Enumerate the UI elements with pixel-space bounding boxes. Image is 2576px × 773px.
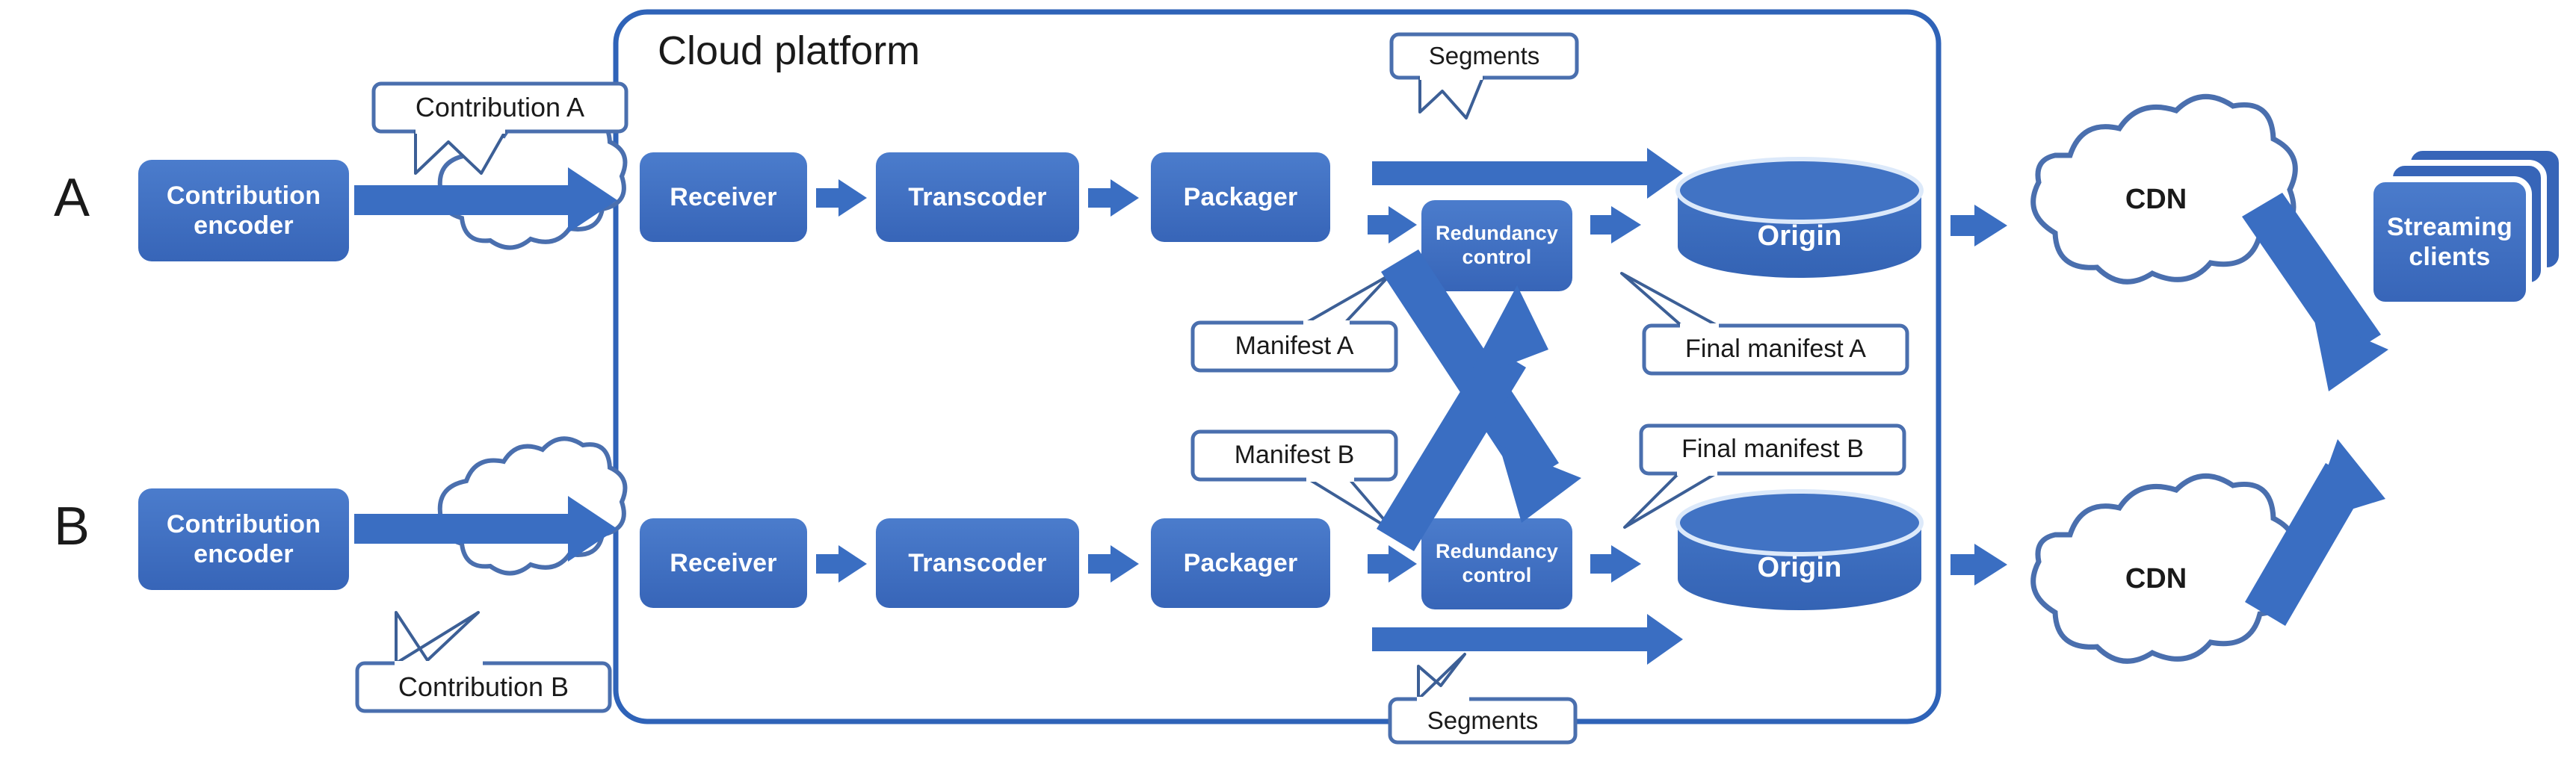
receiver-box-a [640,152,807,242]
transcoder-box-a [876,152,1079,242]
arrow-transcoder-to-packager-b [1088,545,1139,583]
contribution-cloud-b [440,438,626,573]
arrow-packager-to-redundancy-b [1368,545,1417,583]
diagram-canvas: A B Cloud platform Contribution encoder … [0,0,2576,773]
packager-box-a [1151,152,1330,242]
origin-cylinder-b [1678,491,1921,610]
contribution-encoder-box-b [138,488,349,590]
arrow-origin-to-cdn-a [1950,205,2007,246]
packager-box-b [1151,518,1330,608]
callout-segments-a [1392,34,1577,118]
origin-cylinder-a [1678,159,1921,278]
diagram-vector-layer [0,0,2576,773]
callout-final-manifest-a [1622,273,1907,373]
streaming-clients-card-front [2370,179,2529,305]
redundancy-control-box-a [1421,200,1572,291]
arrow-transcoder-to-packager-a [1088,179,1139,217]
receiver-box-b [640,518,807,608]
flow-arrow-segments-b [1372,614,1683,665]
cdn-cloud-b [2033,476,2296,661]
callout-manifest-a [1193,275,1396,370]
arrow-receiver-to-transcoder-a [816,179,867,217]
arrow-origin-to-cdn-b [1950,544,2007,586]
callout-segments-b [1390,654,1575,742]
redundancy-control-box-b [1421,518,1572,609]
arrow-packager-to-redundancy-a [1368,206,1417,243]
arrow-redundancy-to-origin-b [1590,545,1641,583]
cdn-cloud-a [2033,96,2296,282]
arrow-redundancy-to-origin-a [1590,206,1641,243]
flow-arrow-cdn-a-to-clients [2242,193,2388,391]
callout-manifest-b [1193,432,1396,532]
arrow-receiver-to-transcoder-b [816,545,867,583]
flow-arrow-segments-a [1372,148,1683,199]
callout-contribution-b [357,612,610,711]
transcoder-box-b [876,518,1079,608]
contribution-encoder-box-a [138,160,349,261]
